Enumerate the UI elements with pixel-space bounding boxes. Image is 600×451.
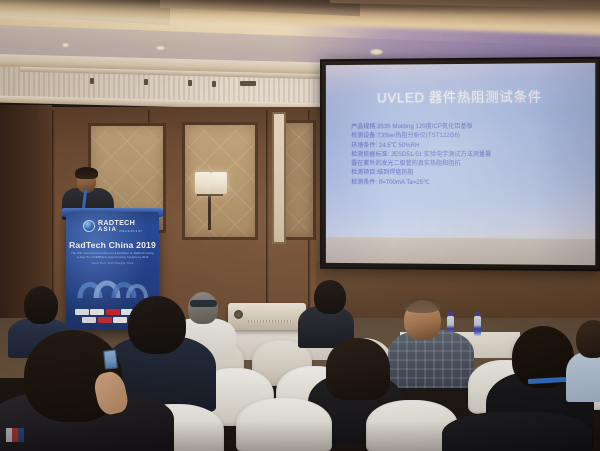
- lectern-headline: RadTech China 2019: [66, 240, 159, 250]
- downlight-icon: [156, 46, 165, 50]
- conference-room-photo: UVLED 器件热阻测试条件 产品规格:3535 Molding 120度ICP…: [0, 0, 600, 451]
- track-light-icon: [144, 79, 148, 85]
- projection-screen: UVLED 器件热阻测试条件 产品规格:3535 Molding 120度ICP…: [320, 57, 600, 272]
- attendee-head: [128, 296, 186, 354]
- track-light-icon: [240, 81, 256, 86]
- attendee-head: [188, 292, 218, 324]
- attendee-head: [576, 320, 600, 358]
- sponsor-logo: [106, 309, 120, 315]
- attendee-hair: [404, 298, 440, 313]
- smartphone: [103, 349, 118, 369]
- bottle-cap: [448, 312, 453, 316]
- wall-fabric-panel: [282, 120, 316, 240]
- wall-seam: [266, 110, 269, 335]
- sponsor-logo: [113, 317, 127, 323]
- track-light-icon: [90, 78, 94, 84]
- sponsor-logo: [90, 309, 104, 315]
- track-light-icon: [212, 81, 216, 87]
- audience-chair: [236, 398, 332, 451]
- attendee-body: [442, 412, 592, 451]
- attendee-head: [24, 286, 58, 324]
- sconce-shade: [195, 172, 211, 194]
- attendee-head: [326, 338, 390, 400]
- door-frame: [272, 112, 286, 244]
- projection-screen-surface: UVLED 器件热阻测试条件 产品规格:3535 Molding 120度ICP…: [326, 63, 595, 265]
- screen-vignette: [326, 63, 595, 265]
- sconce-shade: [211, 172, 227, 194]
- sunglasses-icon: [190, 300, 217, 307]
- presenter-hair: [75, 167, 98, 179]
- logo-wordmark-sub: ASIA: [98, 226, 117, 233]
- logo-dates: 2019.3.25-3.27: [119, 229, 142, 233]
- projector-vent: [248, 320, 292, 323]
- bottle-cap: [475, 312, 480, 316]
- lectern-dateline: March 25-27, 2019 Shanghai, China: [70, 262, 155, 265]
- logo-wordmark: RADTECH: [98, 219, 142, 226]
- globe-icon: [83, 220, 95, 232]
- downlight-icon: [370, 49, 383, 55]
- downlight-icon: [62, 43, 69, 47]
- sconce-crossbar: [197, 194, 223, 196]
- sconce-stem: [208, 196, 211, 230]
- projector-lens-icon: [234, 310, 243, 319]
- lectern-logo: RADTECH ASIA 2019.3.25-3.27: [66, 219, 159, 233]
- attendee-body: [566, 352, 600, 402]
- attendee-head: [314, 280, 346, 314]
- sponsor-logo: [75, 309, 89, 315]
- swoosh-logo-icon: [76, 272, 150, 304]
- sponsor-logo: [82, 317, 96, 323]
- water-bottle: [474, 316, 481, 336]
- sponsor-logo: [98, 317, 112, 323]
- lectern-subline: The 15th International Conference & Exhi…: [70, 251, 155, 259]
- track-light-icon: [188, 80, 192, 86]
- flag-patch-icon: [6, 428, 24, 442]
